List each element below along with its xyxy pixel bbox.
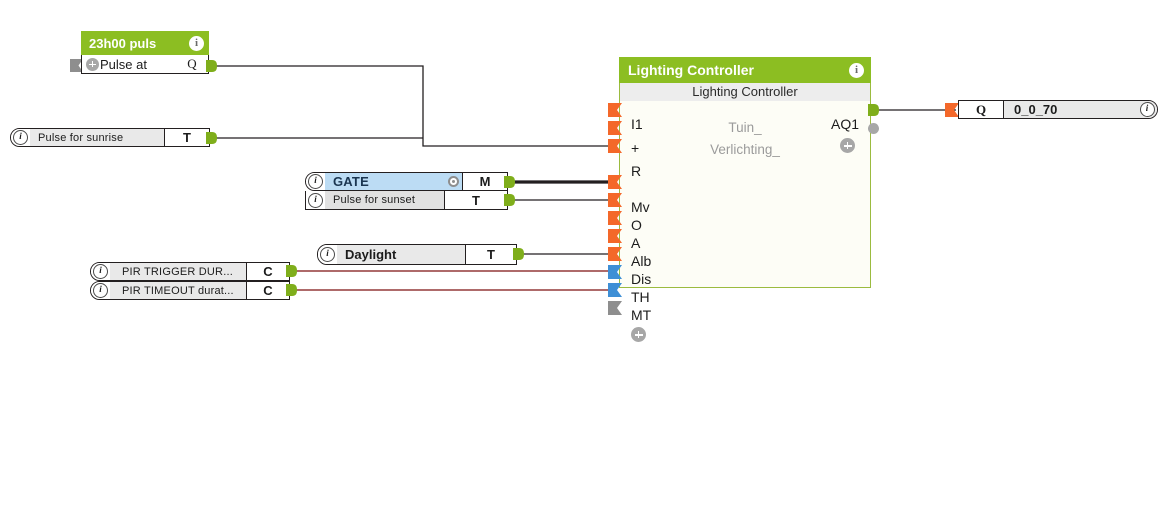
info-icon[interactable]: i <box>1137 101 1157 118</box>
output-connector-sunrise-t[interactable] <box>206 132 218 144</box>
block-slot-pulse-for-sunset: T <box>444 191 507 209</box>
plus-circle-icon[interactable] <box>86 58 99 71</box>
block-label-gate: GATE <box>325 173 444 190</box>
block-pir-timeout-duration[interactable]: i PIR TIMEOUT durat... C <box>90 281 290 300</box>
block-gate[interactable]: i GATE M <box>305 172 508 191</box>
output-connector-pir-timeout-c[interactable] <box>286 284 298 296</box>
target-radio-icon[interactable] <box>444 173 462 190</box>
info-icon[interactable]: i <box>91 282 110 299</box>
info-icon[interactable]: i <box>318 245 337 264</box>
block-header-23h00-puls[interactable]: 23h00 puls i <box>81 31 209 55</box>
block-label-pulse-for-sunrise: Pulse for sunrise <box>30 129 164 146</box>
input-connector-r[interactable] <box>608 139 623 153</box>
diagram-canvas[interactable]: 23h00 puls i Pulse at Q i Pulse for sunr… <box>0 0 1164 512</box>
block-output-0-0-70[interactable]: Q 0_0_70 i <box>958 100 1158 119</box>
input-connector-a[interactable] <box>608 211 623 225</box>
input-pin-label-q: Q <box>959 101 1003 118</box>
block-slot-daylight: T <box>465 245 516 264</box>
block-row-label-pulse-at: Pulse at <box>100 57 176 72</box>
wire-pulse23h00-to-r <box>210 66 616 146</box>
output-pin-label-q: Q <box>176 56 208 72</box>
input-label-i1: I1 <box>631 117 643 131</box>
center-text-line-2: Verlichting_ <box>620 142 870 157</box>
block-row-pulse-at[interactable]: Pulse at Q <box>81 55 209 74</box>
block-label-pulse-for-sunset: Pulse for sunset <box>325 191 444 209</box>
block-lighting-controller[interactable]: Lighting Controller i Lighting Controlle… <box>619 57 871 288</box>
info-icon[interactable]: i <box>189 36 204 51</box>
block-header-lighting-controller[interactable]: Lighting Controller i <box>619 57 871 83</box>
output-connector-pulse23h00-q[interactable] <box>206 60 218 72</box>
plus-circle-icon-add-input[interactable] <box>631 327 646 347</box>
block-23h00-puls[interactable]: 23h00 puls i Pulse at Q <box>81 31 209 74</box>
input-label-alb: Alb <box>631 254 651 268</box>
block-pulse-for-sunset[interactable]: i Pulse for sunset T <box>305 191 508 210</box>
wire-layer <box>0 0 1164 512</box>
block-pulse-for-sunrise[interactable]: i Pulse for sunrise T <box>10 128 210 147</box>
input-label-dis: Dis <box>631 272 651 286</box>
output-connector-pir-trigger-c[interactable] <box>286 265 298 277</box>
input-connector-o[interactable] <box>608 193 623 207</box>
block-title-23h00-puls: 23h00 puls <box>89 36 189 51</box>
block-slot-pir-trigger: C <box>246 263 289 280</box>
input-connector-th[interactable] <box>608 265 623 279</box>
input-connector-plus[interactable] <box>608 121 623 135</box>
input-label-mv: Mv <box>631 200 650 214</box>
input-label-mt: MT <box>631 308 651 322</box>
block-body-lighting-controller: Tuin_ Verlichting_ I1 + R Mv O A Alb Dis… <box>620 101 870 287</box>
info-icon[interactable]: i <box>306 173 325 190</box>
dot-connector-unconnected-add-output[interactable] <box>868 123 879 134</box>
output-connector-aq1[interactable] <box>868 104 880 116</box>
input-label-a: A <box>631 236 640 250</box>
block-slot-pulse-for-sunrise: T <box>164 129 209 146</box>
block-title-lighting-controller: Lighting Controller <box>628 62 849 78</box>
block-slot-pir-timeout: C <box>246 282 289 299</box>
info-icon[interactable]: i <box>91 263 110 280</box>
output-connector-gate-m[interactable] <box>504 176 516 188</box>
input-label-o: O <box>631 218 642 232</box>
input-label-r: R <box>631 164 641 178</box>
block-label-pir-trigger-duration: PIR TRIGGER DUR... <box>110 263 246 280</box>
flag-connector-unconnected-add-input[interactable] <box>608 301 623 315</box>
output-label-aq1: AQ1 <box>831 117 859 131</box>
block-daylight[interactable]: i Daylight T <box>317 244 517 265</box>
output-connector-daylight-t[interactable] <box>513 248 525 260</box>
info-icon[interactable]: i <box>306 191 325 209</box>
output-connector-sunset-t[interactable] <box>504 194 516 206</box>
block-label-daylight: Daylight <box>337 245 465 264</box>
info-icon[interactable]: i <box>11 129 30 146</box>
input-connector-mv[interactable] <box>608 175 623 189</box>
block-label-output-0-0-70: 0_0_70 <box>1003 101 1137 118</box>
input-label-th: TH <box>631 290 650 304</box>
input-connector-mt[interactable] <box>608 283 623 297</box>
info-icon[interactable]: i <box>849 63 864 78</box>
block-slot-gate: M <box>462 173 507 190</box>
input-connector-i1[interactable] <box>608 103 623 117</box>
plus-circle-icon-add-output[interactable] <box>840 138 855 158</box>
input-connector-dis[interactable] <box>608 247 623 261</box>
input-connector-alb[interactable] <box>608 229 623 243</box>
block-label-pir-timeout-duration: PIR TIMEOUT durat... <box>110 282 246 299</box>
input-label-plus: + <box>631 141 639 155</box>
block-pir-trigger-duration[interactable]: i PIR TRIGGER DUR... C <box>90 262 290 281</box>
block-subtitle-lighting-controller: Lighting Controller <box>620 83 870 101</box>
